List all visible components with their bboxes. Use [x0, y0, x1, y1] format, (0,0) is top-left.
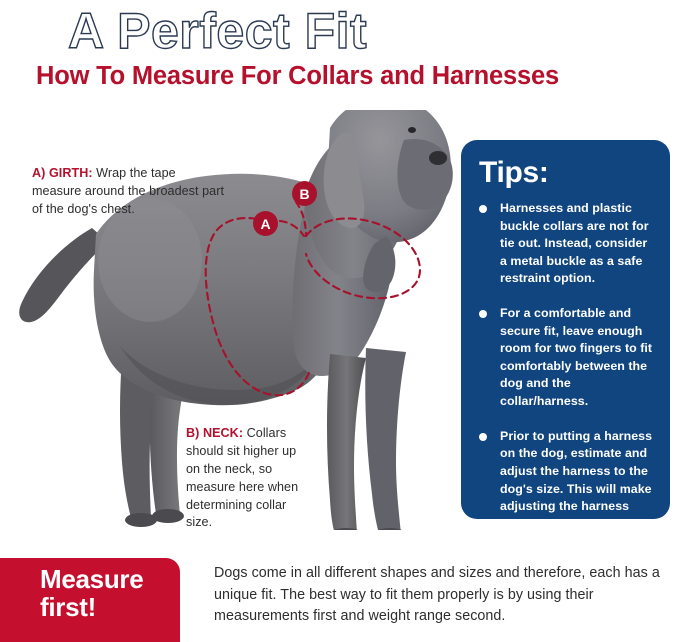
- annotation-neck: B) NECK: Collars should sit higher up on…: [186, 425, 312, 532]
- tip-item: For a comfortable and secure fit, leave …: [477, 305, 654, 411]
- measure-first-line1: Measure: [40, 565, 180, 593]
- annotation-neck-lead: B) NECK:: [186, 426, 243, 440]
- annotation-girth-lead: A) GIRTH:: [32, 166, 93, 180]
- tip-item-text: Prior to putting a harness on the dog, e…: [500, 429, 652, 549]
- page-subtitle: How To Measure For Collars and Harnesses: [36, 62, 559, 91]
- dog-nose: [429, 151, 447, 165]
- bullet-icon: [479, 433, 487, 441]
- annotation-neck-body: Collars should sit higher up on the neck…: [186, 426, 298, 529]
- tips-panel: Tips: Harnesses and plastic buckle colla…: [461, 140, 670, 519]
- bullet-icon: [479, 310, 487, 318]
- marker-b-neck: B: [292, 181, 317, 206]
- measure-first-line2: first!: [40, 593, 180, 621]
- bullet-icon: [479, 205, 487, 213]
- marker-a-girth: A: [253, 211, 278, 236]
- measure-first-label: Measure first!: [40, 565, 180, 621]
- tip-item: Prior to putting a harness on the dog, e…: [477, 428, 654, 551]
- tip-item-text: For a comfortable and secure fit, leave …: [500, 306, 652, 408]
- dog-front-leg-near: [327, 354, 366, 534]
- tips-heading: Tips:: [479, 158, 654, 188]
- tip-item-text: Harnesses and plastic buckle collars are…: [500, 201, 649, 285]
- dog-paw-4: [152, 509, 184, 523]
- annotation-girth: A) GIRTH: Wrap the tape measure around t…: [32, 165, 228, 219]
- tip-item: Harnesses and plastic buckle collars are…: [477, 200, 654, 288]
- footer-copy: Dogs come in all different shapes and si…: [214, 563, 674, 628]
- page-title: A Perfect Fit: [68, 4, 367, 59]
- dog-eye: [408, 127, 416, 133]
- infographic-page: A Perfect Fit How To Measure For Collars…: [0, 0, 679, 642]
- tips-list: Harnesses and plastic buckle collars are…: [477, 200, 654, 551]
- dog-front-leg-far: [365, 348, 406, 534]
